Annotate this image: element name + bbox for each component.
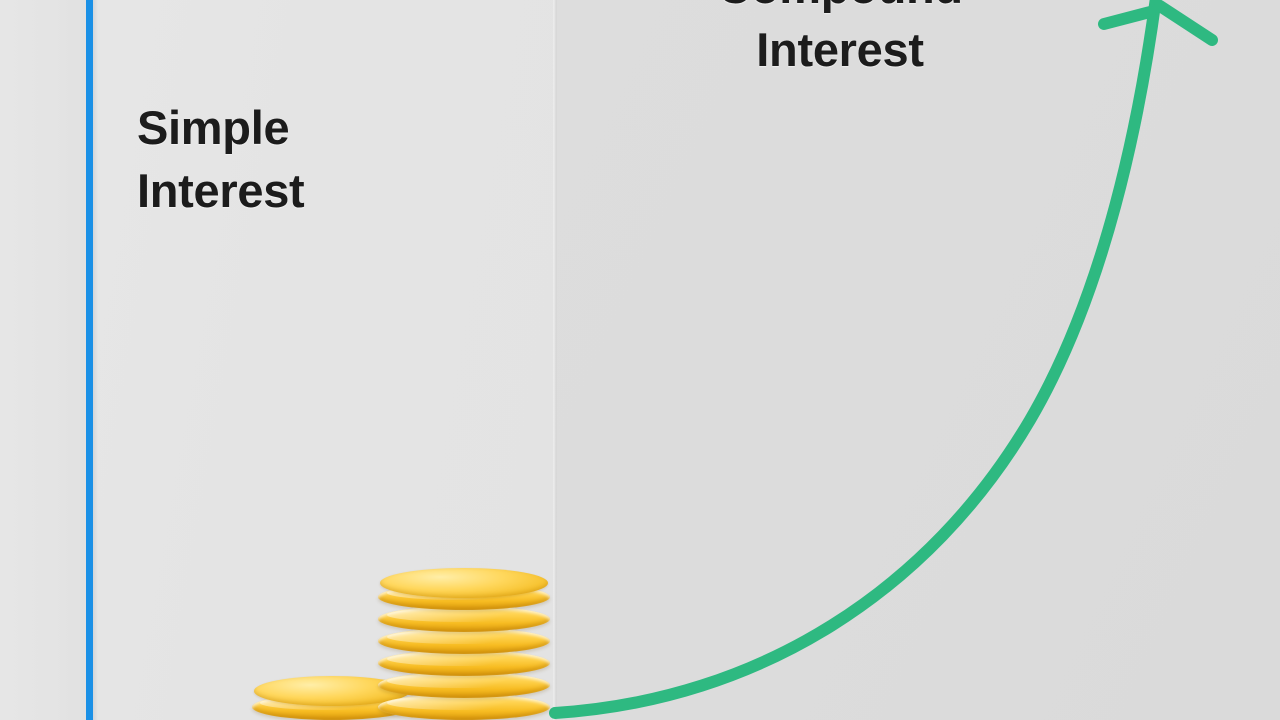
slide-canvas: Simple Interest Compound Interest bbox=[0, 0, 1280, 720]
heading-simple-interest: Simple Interest bbox=[137, 97, 304, 222]
blue-accent-bar bbox=[86, 0, 93, 720]
left-edge-strip bbox=[0, 0, 86, 720]
coin-top-face bbox=[380, 568, 549, 598]
heading-compound-interest: Compound Interest bbox=[555, 0, 1125, 81]
panel-compound-interest bbox=[555, 0, 1280, 720]
panel-divider-seam bbox=[553, 0, 557, 720]
coin-stack-tall bbox=[378, 568, 550, 720]
